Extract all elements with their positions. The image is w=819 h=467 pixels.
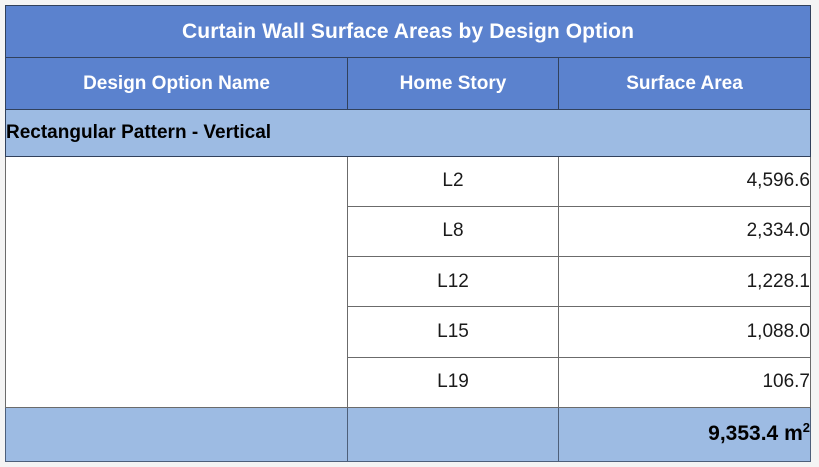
cell-home-story: L15 — [348, 307, 559, 357]
schedule-table: Curtain Wall Surface Areas by Design Opt… — [5, 5, 811, 462]
cell-surface-area: 2,334.0 — [559, 206, 811, 256]
cell-surface-area: 106.7 — [559, 357, 811, 407]
cell-surface-area: 4,596.6 — [559, 156, 811, 206]
cell-surface-area: 1,088.0 — [559, 307, 811, 357]
cell-home-story: L12 — [348, 257, 559, 307]
table-row[interactable]: L2 4,596.6 — [6, 156, 811, 206]
cell-home-story: L19 — [348, 357, 559, 407]
total-surface-area-value: 9,353.4 — [708, 422, 778, 445]
schedule-title-row: Curtain Wall Surface Areas by Design Opt… — [6, 6, 811, 58]
column-header-design-option-name[interactable]: Design Option Name — [6, 58, 348, 110]
schedule-title: Curtain Wall Surface Areas by Design Opt… — [6, 6, 811, 58]
group-name-rectangular-pattern-vertical: Rectangular Pattern - Vertical — [6, 110, 811, 156]
cell-home-story: L2 — [348, 156, 559, 206]
total-surface-area: 9,353.4 m2 — [559, 407, 811, 461]
total-surface-area-unit-exponent: 2 — [803, 420, 810, 435]
total-row: 9,353.4 m2 — [6, 407, 811, 461]
curtain-wall-schedule: Curtain Wall Surface Areas by Design Opt… — [5, 5, 810, 462]
cell-surface-area: 1,228.1 — [559, 257, 811, 307]
column-header-row: Design Option Name Home Story Surface Ar… — [6, 58, 811, 110]
group-header-row: Rectangular Pattern - Vertical — [6, 110, 811, 156]
design-option-name-merged-cell — [6, 156, 348, 407]
total-home-story-blank-cell — [348, 407, 559, 461]
column-header-surface-area[interactable]: Surface Area — [559, 58, 811, 110]
column-header-home-story[interactable]: Home Story — [348, 58, 559, 110]
total-surface-area-unit: m — [784, 422, 803, 445]
total-design-option-blank-cell — [6, 407, 348, 461]
cell-home-story: L8 — [348, 206, 559, 256]
